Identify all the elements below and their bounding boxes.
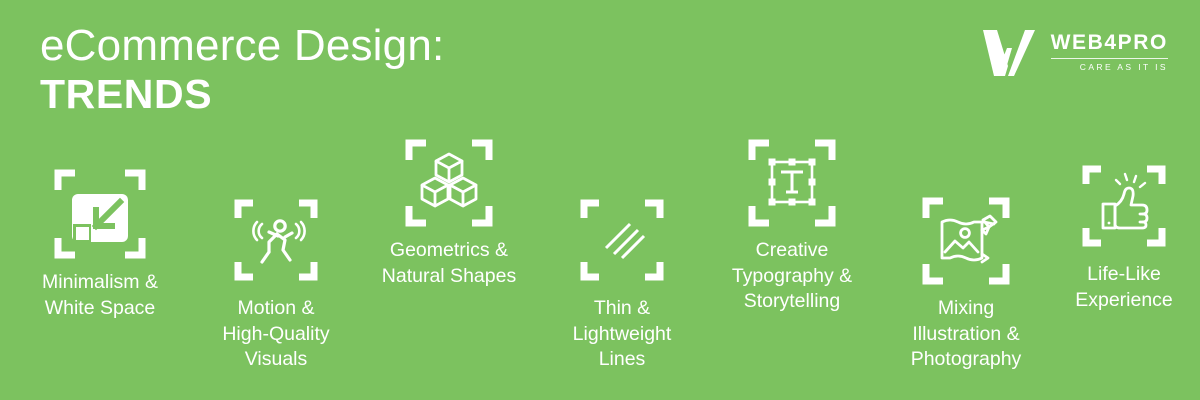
diagonal-lines-icon xyxy=(568,186,676,294)
trend-caption: Life-Like Experience xyxy=(1075,262,1173,313)
trend-item-minimalism[interactable]: Minimalism & White Space xyxy=(5,160,195,321)
trend-item-life-like[interactable]: Life-Like Experience xyxy=(1029,152,1200,313)
trend-item-thin-lines[interactable]: Thin & Lightweight Lines xyxy=(527,186,717,373)
minimalism-arrow-icon xyxy=(46,160,154,268)
trend-item-geometrics[interactable]: Geometrics & Natural Shapes xyxy=(354,128,544,289)
trend-caption: Minimalism & White Space xyxy=(42,270,158,321)
running-person-motion-icon xyxy=(222,186,330,294)
stacked-cubes-icon xyxy=(395,128,503,236)
banner-root: eCommerce Design: TRENDS WEB4PRO CARE AS… xyxy=(0,0,1200,400)
title-line-1: eCommerce Design: xyxy=(40,22,444,70)
trend-item-typography[interactable]: Creative Typography & Storytelling xyxy=(697,128,887,315)
trend-caption: Geometrics & Natural Shapes xyxy=(382,238,516,289)
title-line-2: TRENDS xyxy=(40,72,444,117)
logo-tagline: CARE AS IT IS xyxy=(1051,63,1168,72)
thumbs-up-icon xyxy=(1070,152,1178,260)
trend-item-motion[interactable]: Motion & High-Quality Visuals xyxy=(181,186,371,373)
trend-caption: Mixing Illustration & Photography xyxy=(911,296,1022,373)
trend-caption: Thin & Lightweight Lines xyxy=(573,296,672,373)
w-mark-icon xyxy=(981,28,1037,76)
page-title: eCommerce Design: TRENDS xyxy=(40,22,444,117)
logo-divider xyxy=(1051,58,1168,59)
logo-wordmark: WEB4PRO xyxy=(1051,32,1168,53)
brand-logo[interactable]: WEB4PRO CARE AS IT IS xyxy=(981,28,1168,76)
trend-caption: Motion & High-Quality Visuals xyxy=(222,296,329,373)
photo-pencil-icon xyxy=(912,186,1020,294)
typography-t-icon xyxy=(738,128,846,236)
trend-caption: Creative Typography & Storytelling xyxy=(732,238,852,315)
logo-text-block: WEB4PRO CARE AS IT IS xyxy=(1051,32,1168,72)
